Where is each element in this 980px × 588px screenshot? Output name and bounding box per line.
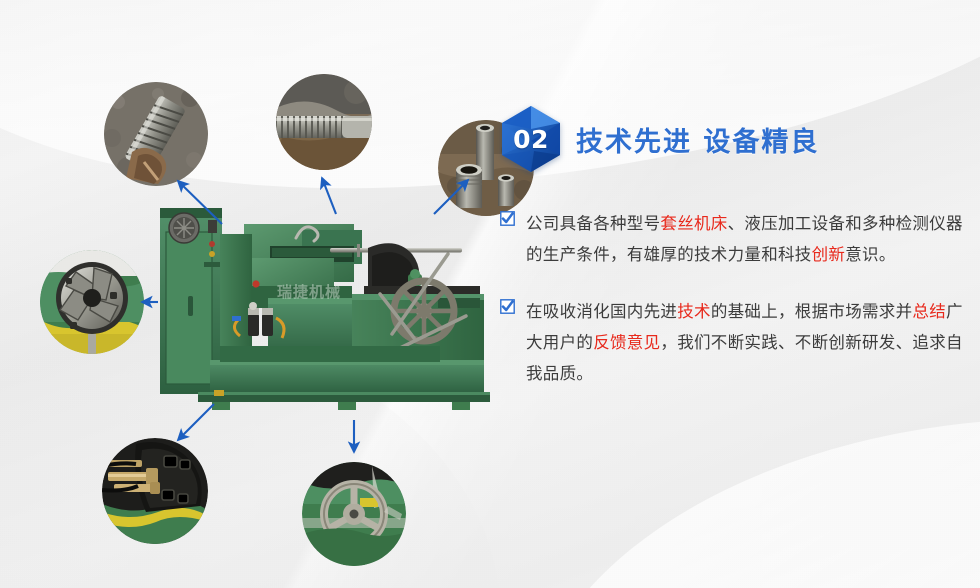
- highlight-text: 反馈意见: [593, 333, 660, 352]
- highlight-text: 套丝机床: [660, 214, 727, 233]
- bullet-text-1: 公司具备各种型号套丝机床、液压加工设备和多种检测仪器的生产条件，有雄厚的技术力量…: [526, 214, 963, 264]
- background-sweep-bottom: [506, 406, 980, 588]
- highlight-text: 技术: [677, 302, 711, 321]
- hexagon-badge-icon: 02: [500, 105, 562, 173]
- section-headline: 02 技术先进 设备精良: [500, 104, 970, 174]
- body-text: 在吸收消化国内先进: [526, 302, 677, 321]
- threading-machine-photo: 瑞捷机械: [152, 186, 492, 421]
- detail-handwheel: [302, 462, 406, 566]
- content-column: 02 技术先进 设备精良 公司具备各种型号套丝机床、液压加工设备和多种检测仪器的…: [500, 104, 970, 415]
- bullet-item-1: 公司具备各种型号套丝机床、液压加工设备和多种检测仪器的生产条件，有雄厚的技术力量…: [500, 208, 970, 270]
- promo-banner: 瑞捷机械: [0, 0, 980, 588]
- detail-hydraulic-fittings: [102, 438, 208, 544]
- highlight-text: 创新: [812, 245, 846, 264]
- checkbox-checked-icon: [500, 211, 515, 226]
- detail-die-head: [40, 250, 144, 354]
- highlight-text: 总结: [912, 302, 946, 321]
- section-title: 技术先进 设备精良: [576, 120, 819, 159]
- body-text: 公司具备各种型号: [526, 214, 660, 233]
- bullet-item-2: 在吸收消化国内先进技术的基础上，根据市场需求并总结广大用户的反馈意见，我们不断实…: [500, 296, 970, 389]
- section-number: 02: [500, 105, 562, 173]
- detail-threaded-rod-end: [104, 82, 208, 186]
- photo-watermark: 瑞捷机械: [277, 281, 341, 302]
- body-text: 的基础上，根据市场需求并: [711, 302, 913, 321]
- bullet-text-2: 在吸收消化国内先进技术的基础上，根据市场需求并总结广大用户的反馈意见，我们不断实…: [526, 302, 963, 383]
- body-text: 意识。: [845, 245, 895, 264]
- bullet-list: 公司具备各种型号套丝机床、液压加工设备和多种检测仪器的生产条件，有雄厚的技术力量…: [500, 208, 970, 389]
- detail-threaded-bar: [276, 74, 372, 170]
- checkbox-checked-icon: [500, 299, 515, 314]
